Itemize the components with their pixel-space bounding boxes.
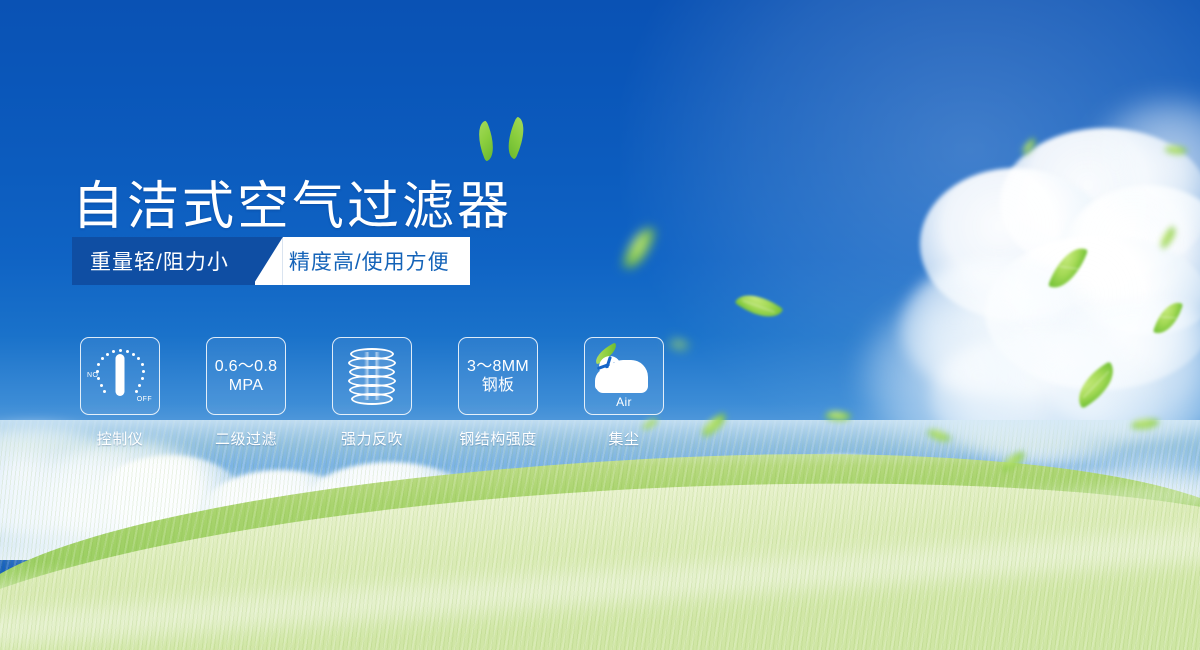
gauge-label-off: OFF bbox=[137, 396, 152, 403]
feature-item-dust-collection[interactable]: Air 集尘 bbox=[584, 337, 664, 449]
feature-item-steel-strength[interactable]: 3～8MM 钢板 钢结构强度 bbox=[458, 337, 538, 449]
feature-box bbox=[332, 337, 412, 415]
feature-label: 钢结构强度 bbox=[459, 428, 537, 449]
feature-item-strong-backblow[interactable]: 强力反吹 bbox=[332, 337, 412, 449]
feature-list: NO OFF 控制仪 0.6～0.8 MPA 二级过滤 bbox=[80, 337, 664, 449]
feature-box: Air bbox=[584, 337, 664, 415]
tagline-right: 精度高/使用方便 bbox=[283, 237, 470, 285]
air-label: Air bbox=[593, 395, 655, 409]
gauge-label-no: NO bbox=[87, 372, 98, 379]
page-title: 自洁式空气过滤器 bbox=[72, 176, 512, 238]
tagline-divider bbox=[253, 237, 283, 285]
feature-label: 二级过滤 bbox=[215, 428, 277, 449]
feature-label: 集尘 bbox=[608, 428, 639, 449]
coil-filter-icon bbox=[346, 348, 398, 404]
feature-label: 强力反吹 bbox=[341, 428, 403, 449]
feature-box: 0.6～0.8 MPA bbox=[206, 337, 286, 415]
feature-item-secondary-filtration[interactable]: 0.6～0.8 MPA 二级过滤 bbox=[206, 337, 286, 449]
feature-item-control-gauge[interactable]: NO OFF 控制仪 bbox=[80, 337, 160, 449]
tagline-left: 重量轻/阻力小 bbox=[72, 237, 255, 285]
feature-label: 控制仪 bbox=[97, 428, 144, 449]
feature-box: 3～8MM 钢板 bbox=[458, 337, 538, 415]
steel-plate-value-icon: 3～8MM 钢板 bbox=[467, 357, 529, 395]
gauge-needle bbox=[116, 354, 125, 396]
cloud-base-shape bbox=[596, 384, 648, 393]
gauge-icon: NO OFF bbox=[87, 345, 153, 407]
feature-tagline: 重量轻/阻力小 精度高/使用方便 bbox=[72, 237, 470, 285]
pressure-value-icon: 0.6～0.8 MPA bbox=[215, 357, 278, 395]
product-banner: 自洁式空气过滤器 重量轻/阻力小 精度高/使用方便 bbox=[0, 0, 1200, 650]
feature-box: NO OFF bbox=[80, 337, 160, 415]
cloud-air-icon: Air bbox=[593, 346, 655, 406]
